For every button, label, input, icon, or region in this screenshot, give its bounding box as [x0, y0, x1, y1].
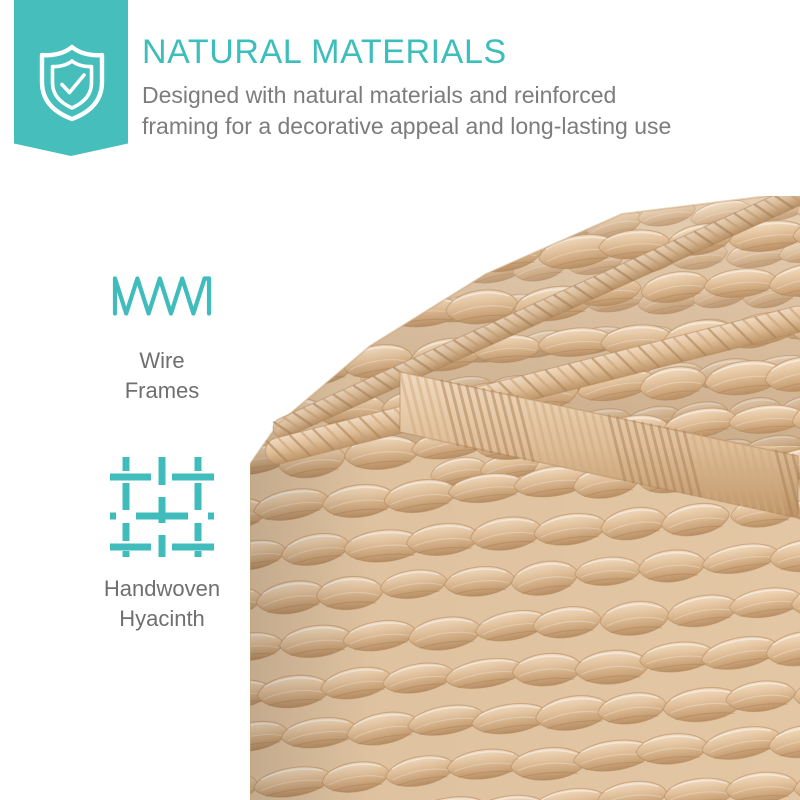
feature-hyacinth-label-line-1: Handwoven	[62, 574, 262, 604]
woven-weave-icon	[106, 453, 218, 561]
subtitle-line-2: framing for a decorative appeal and long…	[142, 111, 782, 142]
feature-wire-frames: Wire Frames	[62, 258, 262, 406]
spring-coil-icon-wrap	[62, 258, 262, 334]
woven-basket-illustration	[250, 196, 800, 800]
page-title: NATURAL MATERIALS	[142, 32, 782, 72]
feature-wire-frames-label: Wire Frames	[62, 346, 262, 406]
page-subtitle: Designed with natural materials and rein…	[142, 80, 782, 142]
infographic-page: NATURAL MATERIALS Designed with natural …	[0, 0, 800, 800]
feature-hyacinth-label-line-2: Hyacinth	[62, 604, 262, 634]
feature-wire-label-line-2: Frames	[62, 376, 262, 406]
feature-wire-label-line-1: Wire	[62, 346, 262, 376]
feature-hyacinth-label: Handwoven Hyacinth	[62, 574, 262, 634]
woven-weave-icon-wrap	[62, 452, 262, 562]
feature-handwoven-hyacinth: Handwoven Hyacinth	[62, 452, 262, 634]
header-text-block: NATURAL MATERIALS Designed with natural …	[142, 32, 782, 142]
subtitle-line-1: Designed with natural materials and rein…	[142, 80, 782, 111]
shield-check-icon	[34, 42, 110, 122]
spring-coil-icon	[112, 275, 212, 317]
product-photo	[250, 196, 800, 800]
